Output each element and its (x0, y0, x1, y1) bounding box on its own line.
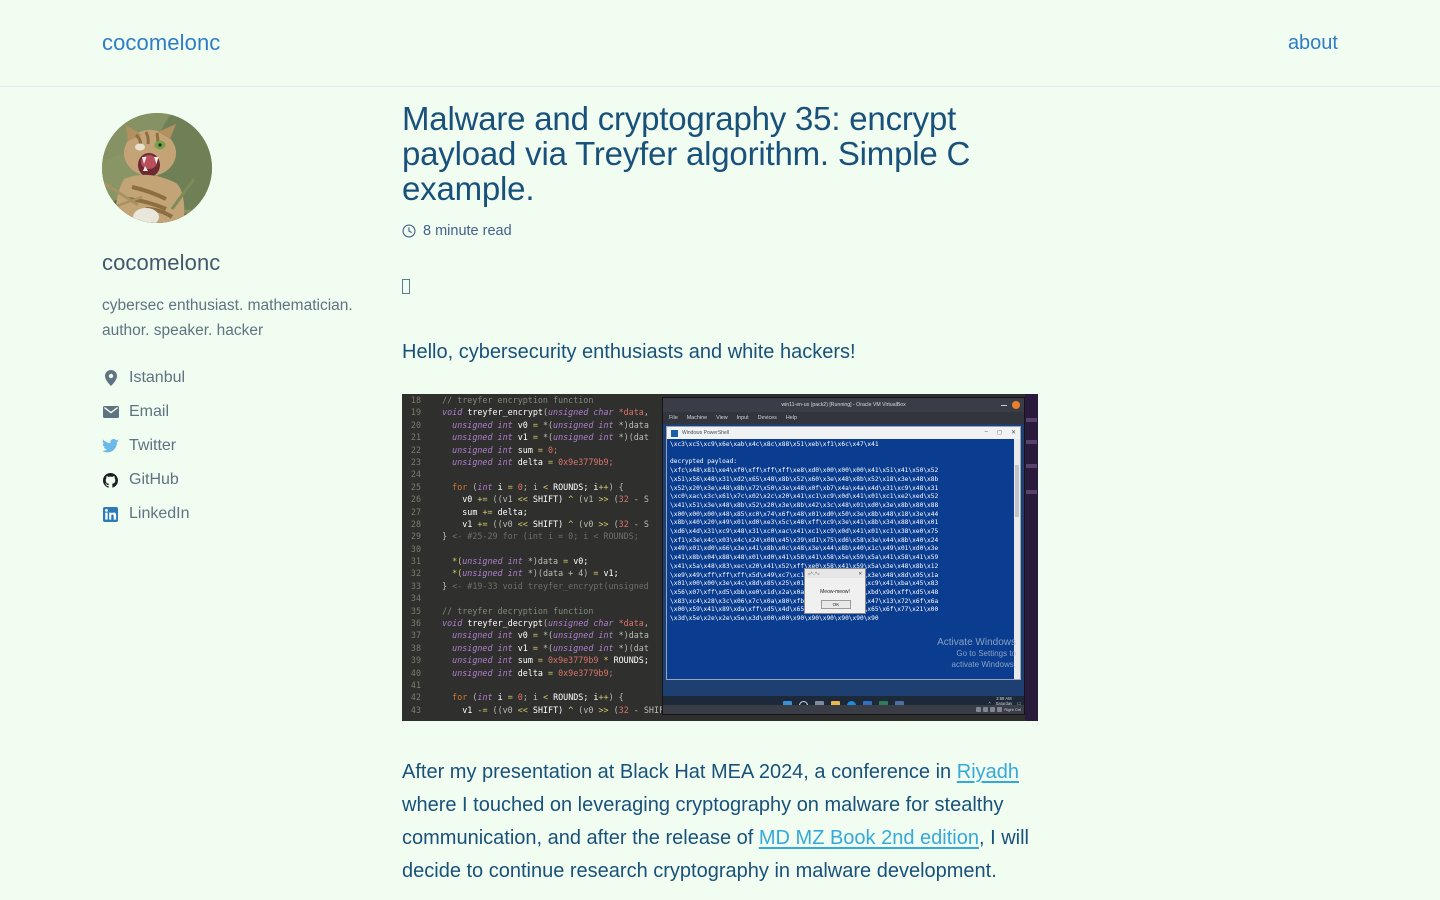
code-token: for (452, 482, 467, 492)
code-token: -= (477, 705, 487, 715)
line-number: 40 (402, 667, 432, 679)
social-item-email[interactable]: Email (102, 403, 370, 421)
code-token (432, 494, 462, 504)
code-token: * (598, 655, 613, 665)
line-number: 18 (402, 394, 432, 406)
github-icon (102, 473, 119, 488)
code-token: unsigned int (452, 445, 513, 455)
code-token: // treyfer decryption function (442, 606, 593, 616)
menu-item-input[interactable]: Input (737, 415, 749, 421)
location-pin-icon (102, 370, 119, 386)
code-token (432, 445, 452, 455)
status-icon (976, 707, 981, 712)
code-token: 32 (619, 705, 629, 715)
code-token: >> (598, 519, 608, 529)
line-number: 38 (402, 642, 432, 654)
line-number: 27 (402, 506, 432, 518)
code-token: unsigned int (452, 668, 513, 678)
code-token: 0; (543, 445, 558, 455)
article-screenshot[interactable]: 18 // treyfer encryption function19 void… (402, 394, 1038, 721)
social-label-github: GitHub (129, 471, 179, 489)
site-title-link[interactable]: cocomelonc (102, 32, 220, 54)
code-token: treyfer_decrypt (467, 618, 543, 628)
social-label-email: Email (129, 403, 169, 421)
site-header: cocomelonc about (0, 0, 1440, 87)
code-token: v0; (568, 556, 588, 566)
window-controls[interactable] (1001, 401, 1020, 409)
host-key-hint: Right Ctrl (1004, 707, 1021, 712)
code-token: // treyfer encryption function (442, 395, 593, 405)
code-token: unsigned int (553, 643, 619, 653)
code-token: *)(dat (619, 432, 649, 442)
code-token: 0 (513, 482, 523, 492)
code-token: += (482, 507, 492, 517)
line-number: 35 (402, 605, 432, 617)
code-token: ((v0 (488, 519, 518, 529)
code-token: (v0 (573, 519, 598, 529)
code-token: unsigned int (452, 630, 513, 640)
share-glyph-row[interactable] (402, 275, 1042, 297)
line-number: 33 (402, 580, 432, 592)
activate-windows-watermark: Activate Windows Go to Settings to activ… (937, 637, 1016, 670)
line-number: 24 (402, 468, 432, 480)
code-token: 32 (619, 494, 629, 504)
watermark-line-1: Activate Windows (937, 637, 1016, 648)
social-label-linkedin: LinkedIn (129, 505, 190, 523)
code-token: i (493, 482, 508, 492)
code-token: unsigned int (452, 420, 513, 430)
code-token: unsigned int (452, 432, 513, 442)
code-token: ; i (523, 482, 543, 492)
code-token: ( (609, 705, 619, 715)
code-token: >> (598, 705, 608, 715)
code-token: 0x9e3779b9; (553, 668, 614, 678)
code-token (432, 482, 452, 492)
code-token: << (518, 494, 528, 504)
nav-item-about[interactable]: about (1288, 32, 1338, 55)
code-token (432, 519, 462, 529)
code-token (432, 507, 462, 517)
code-token: *( (452, 568, 462, 578)
menu-item-view[interactable]: View (716, 415, 728, 421)
author-sidebar: cocomelonc cybersec enthusiast. mathemat… (102, 113, 370, 523)
code-token (432, 395, 442, 405)
code-token: unsigned int (462, 568, 528, 578)
social-item-github[interactable]: GitHub (102, 471, 370, 489)
line-number: 34 (402, 592, 432, 604)
code-token: ) { (609, 482, 624, 492)
social-item-linkedin[interactable]: LinkedIn (102, 505, 370, 523)
author-name: cocomelonc (102, 250, 370, 276)
code-token (432, 581, 442, 591)
close-icon[interactable] (1012, 401, 1020, 409)
article-lede: Hello, cybersecurity enthusiasts and whi… (402, 337, 1042, 367)
code-token: sum (513, 445, 538, 455)
social-item-location[interactable]: Istanbul (102, 369, 370, 387)
code-token: 32 (619, 519, 629, 529)
code-token: for (452, 692, 467, 702)
message-box-titlebar: =^..^= ✕ (805, 569, 865, 578)
virtualbox-window[interactable]: win11-en-us (pack2) [Running] - Oracle V… (662, 397, 1025, 715)
code-token: int (477, 482, 492, 492)
virtualbox-title-text: win11-en-us (pack2) [Running] - Oracle V… (781, 402, 905, 408)
code-token (432, 544, 442, 554)
page-body: cocomelonc cybersec enthusiast. mathemat… (0, 87, 1440, 900)
code-token: v1; (598, 568, 618, 578)
code-token: v1 (513, 432, 533, 442)
powershell-window-controls[interactable]: – ◻ ✕ (985, 429, 1016, 436)
code-token: v0 (462, 494, 477, 504)
link-riyadh[interactable]: Riyadh (957, 761, 1019, 783)
code-token: *( (538, 643, 553, 653)
code-token: delta; (493, 507, 528, 517)
twitter-icon (102, 439, 119, 453)
code-token: unsigned int (452, 457, 513, 467)
envelope-icon (102, 406, 119, 418)
code-token (432, 643, 452, 653)
primary-nav: about (1288, 32, 1338, 55)
code-token: v0 (513, 420, 533, 430)
code-token (432, 680, 442, 690)
code-token (432, 593, 442, 603)
social-label-location: Istanbul (129, 369, 185, 387)
line-number: 43 (402, 704, 432, 716)
code-token: 0x9e3779b9 (543, 655, 598, 665)
code-token: SHIFT) (528, 519, 568, 529)
code-token (432, 668, 452, 678)
code-token: sum (513, 655, 538, 665)
scrollbar-thumb[interactable] (1015, 465, 1019, 517)
menu-item-machine[interactable]: Machine (687, 415, 707, 421)
code-token: unsigned char (548, 407, 619, 417)
code-token: , (644, 407, 649, 417)
code-token: ) { (609, 692, 624, 702)
code-token: unsigned int (553, 630, 619, 640)
line-number: 32 (402, 567, 432, 579)
line-number: 21 (402, 431, 432, 443)
code-token: unsigned int (553, 432, 619, 442)
code-token: *( (538, 630, 553, 640)
code-token: *)data (619, 630, 649, 640)
code-token (432, 469, 442, 479)
code-token: v1 (462, 705, 477, 715)
status-icon (983, 707, 988, 712)
code-token: *)(dat (619, 643, 649, 653)
code-token: ( (467, 692, 477, 702)
guest-screen: Windows PowerShell – ◻ ✕ \xc3\xc5\xc9\x6… (663, 424, 1024, 714)
virtualbox-titlebar: win11-en-us (pack2) [Running] - Oracle V… (663, 398, 1024, 412)
code-token: ROUNDS; (614, 655, 649, 665)
code-token: void (442, 407, 462, 417)
code-token (432, 705, 462, 715)
code-token: *)(data + 4) (528, 568, 594, 578)
author-bio: cybersec enthusiast. mathematician. auth… (102, 293, 370, 343)
code-token: v1 (513, 643, 533, 653)
code-token: sum (462, 507, 482, 517)
code-token: unsigned int (452, 643, 513, 653)
code-token: ROUNDS; i (548, 482, 598, 492)
social-label-twitter: Twitter (129, 437, 176, 455)
code-token: += (477, 494, 487, 504)
line-number: 28 (402, 518, 432, 530)
code-token: int (477, 692, 492, 702)
maximize-icon[interactable]: ◻ (997, 429, 1002, 436)
code-token: ((v0 (488, 705, 518, 715)
code-token: v0 (513, 630, 533, 640)
code-token: *( (538, 420, 553, 430)
code-token: 0x9e3779b9; (553, 457, 614, 467)
message-box-title: =^..^= (808, 571, 820, 576)
code-token (432, 531, 442, 541)
code-token: *)data (619, 420, 649, 430)
code-token: ((v1 (488, 494, 518, 504)
code-token: treyfer_encrypt (467, 407, 543, 417)
line-number: 20 (402, 419, 432, 431)
avatar-cat-photo (102, 113, 212, 223)
article: Malware and cryptography 35: encrypt pay… (402, 101, 1042, 888)
line-number: 29 (402, 530, 432, 542)
minimize-icon[interactable] (1001, 405, 1007, 406)
menu-item-file[interactable]: File (669, 415, 678, 421)
watermark-line-2: Go to Settings to (937, 648, 1016, 659)
code-token: unsigned int (462, 556, 528, 566)
paragraph-text-1: After my presentation at Black Hat MEA 2… (402, 761, 957, 783)
code-token: >> (598, 494, 608, 504)
line-number: 37 (402, 629, 432, 641)
code-token: += (477, 519, 487, 529)
line-number: 39 (402, 654, 432, 666)
code-token: unsigned char (548, 618, 619, 628)
code-token: <- #19-33 void treyfer_encrypt(unsigned (447, 581, 649, 591)
code-token (432, 432, 452, 442)
powershell-icon (671, 430, 678, 437)
line-number: 23 (402, 456, 432, 468)
read-time-meta: 8 minute read (402, 223, 1042, 239)
line-number: 42 (402, 691, 432, 703)
code-token: delta (513, 668, 548, 678)
message-box-ok-button[interactable]: OK (821, 600, 851, 609)
minimize-icon[interactable]: – (985, 429, 988, 436)
code-token: ; i (523, 692, 543, 702)
close-icon[interactable]: ✕ (858, 571, 862, 577)
code-token: i (493, 692, 508, 702)
host-desktop-strip (1025, 394, 1038, 721)
powershell-title-text: Windows PowerShell (682, 430, 729, 436)
avatar[interactable] (102, 113, 212, 223)
line-number: 31 (402, 555, 432, 567)
code-token: unsigned int (452, 655, 513, 665)
read-time-label: 8 minute read (423, 223, 512, 239)
code-token: - S (629, 519, 649, 529)
line-number: 19 (402, 406, 432, 418)
status-icon (997, 707, 1002, 712)
code-token: << (518, 519, 528, 529)
code-token (432, 692, 452, 702)
code-token (432, 457, 452, 467)
clock-icon (402, 224, 416, 238)
code-token (432, 420, 452, 430)
code-token: ++ (598, 692, 608, 702)
code-token: ++ (598, 482, 608, 492)
code-token (432, 655, 452, 665)
code-token: ( (609, 494, 619, 504)
virtualbox-menubar[interactable]: FileMachineViewInputDevicesHelp (663, 412, 1024, 424)
code-token: , (644, 618, 649, 628)
line-number: 41 (402, 679, 432, 691)
line-number: 30 (402, 543, 432, 555)
code-token: *( (538, 432, 553, 442)
message-box-text: Meow-meow! (805, 578, 865, 595)
code-token: *)data (528, 556, 563, 566)
code-token: (v1 (573, 494, 598, 504)
message-box-dialog[interactable]: =^..^= ✕ Meow-meow! OK (804, 568, 866, 614)
menu-item-devices[interactable]: Devices (758, 415, 777, 421)
code-token: delta (513, 457, 548, 467)
code-token: (v0 (573, 705, 598, 715)
linkedin-icon (102, 507, 119, 522)
menu-item-help[interactable]: Help (786, 415, 797, 421)
code-token: SHIFT) (528, 705, 568, 715)
code-token: << (518, 705, 528, 715)
code-token: - S (629, 494, 649, 504)
article-paragraph: After my presentation at Black Hat MEA 2… (402, 756, 1038, 888)
code-token (432, 568, 452, 578)
watermark-line-3: activate Windows. (937, 659, 1016, 670)
line-number: 25 (402, 481, 432, 493)
code-token: unsigned int (553, 420, 619, 430)
code-token: <- #25-29 for (int i = 0; i < ROUNDS; (447, 531, 639, 541)
virtualbox-statusbar[interactable]: Right Ctrl (663, 705, 1024, 714)
line-number: 26 (402, 493, 432, 505)
missing-glyph-icon (402, 279, 410, 294)
code-token: ROUNDS; i (548, 692, 598, 702)
code-token (432, 556, 452, 566)
code-token (432, 407, 442, 417)
code-token (432, 630, 452, 640)
code-token: *( (452, 556, 462, 566)
code-token: void (442, 618, 462, 628)
status-icon (990, 707, 995, 712)
page-title: Malware and cryptography 35: encrypt pay… (402, 101, 1002, 206)
line-number: 22 (402, 444, 432, 456)
code-token: *data (619, 618, 644, 628)
close-icon[interactable]: ✕ (1011, 429, 1016, 436)
social-links: Istanbul Email Twitter GitHub (102, 369, 370, 523)
code-token: *data (619, 407, 644, 417)
social-item-twitter[interactable]: Twitter (102, 437, 370, 455)
code-token: ( (609, 519, 619, 529)
code-token (432, 618, 442, 628)
code-token: v1 (462, 519, 477, 529)
code-token (432, 606, 442, 616)
powershell-titlebar: Windows PowerShell – ◻ ✕ (667, 427, 1020, 439)
code-token: SHIFT) (528, 494, 568, 504)
code-token: ( (467, 482, 477, 492)
line-number: 36 (402, 617, 432, 629)
link-md-mz-book[interactable]: MD MZ Book 2nd edition (759, 827, 979, 849)
code-token: 0 (513, 692, 523, 702)
